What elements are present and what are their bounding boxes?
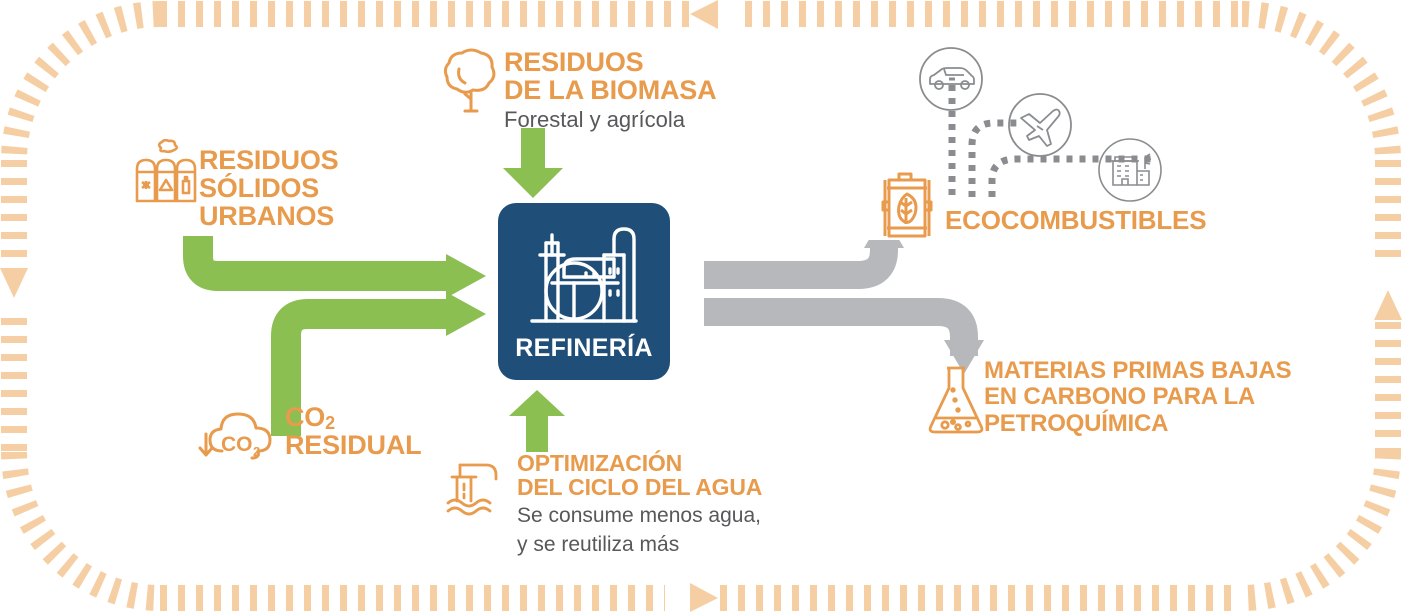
biofuel-barrel-icon	[877, 166, 937, 242]
petro-heading-line3: PETROQUÍMICA	[984, 411, 1314, 437]
right-arrowhead-icon	[1374, 290, 1402, 320]
water-pipe-icon	[446, 457, 512, 517]
refinery-plant-icon	[526, 221, 642, 329]
top-arrowhead-icon	[690, 0, 718, 29]
petro-heading-line1: MATERIAS PRIMAS BAJAS	[984, 358, 1314, 384]
arrow-rsu-head	[446, 254, 486, 298]
eco-text-block: ECOCOMBUSTIBLES	[945, 207, 1275, 234]
arrow-rsu-shaft	[198, 236, 450, 276]
biomasa-text-block: RESIDUOS DE LA BIOMASA Forestal y agríco…	[504, 48, 804, 133]
biomasa-heading-line2: DE LA BIOMASA	[504, 76, 804, 104]
airplane-icon-circle	[1007, 92, 1073, 158]
refinery-card[interactable]: REFINERÍA	[498, 203, 670, 380]
building-icon-circle	[1097, 137, 1163, 203]
biomasa-subtitle: Forestal y agrícola	[504, 107, 804, 133]
svg-text:CO: CO	[221, 433, 253, 456]
biomasa-heading-line1: RESIDUOS	[504, 48, 804, 76]
agua-text-block: OPTIMIZACIÓN DEL CICLO DEL AGUA Se consu…	[517, 452, 847, 557]
co2-heading-line1: CO2	[285, 403, 505, 431]
co2-heading-line2: RESIDUAL	[285, 431, 505, 459]
agua-heading-line2: DEL CICLO DEL AGUA	[517, 476, 847, 500]
rsu-heading-line1: RESIDUOS	[199, 146, 469, 174]
car-icon-circle	[918, 46, 984, 112]
agua-subtitle-line2: y se reutiliza más	[517, 533, 847, 558]
svg-text:2: 2	[253, 444, 260, 459]
erlenmeyer-flask-icon	[925, 360, 987, 440]
bottom-arrowhead-icon	[690, 583, 718, 612]
petro-text-block: MATERIAS PRIMAS BAJAS EN CARBONO PARA LA…	[984, 358, 1314, 437]
loop-dash-corner-br	[1242, 452, 1388, 598]
co2-cloud-icon: CO 2	[196, 406, 280, 464]
arrow-co2-head	[446, 292, 486, 336]
agua-heading-line1: OPTIMIZACIÓN	[517, 452, 847, 476]
green-arrow-agua	[503, 390, 573, 452]
loop-dash-corner-bl	[14, 452, 160, 598]
loop-dash-corner-tr	[1242, 14, 1388, 160]
rsu-heading-line2: SÓLIDOS	[199, 174, 469, 202]
diagram-canvas: REFINERÍA RESIDUOS DE LA BIOMASA Foresta…	[0, 0, 1402, 612]
tree-icon	[443, 45, 499, 115]
rsu-heading-line3: URBANOS	[199, 202, 469, 230]
green-arrow-biomasa	[497, 128, 573, 200]
refinery-label: REFINERÍA	[498, 334, 670, 363]
agua-subtitle-line1: Se consume menos agua,	[517, 504, 847, 529]
eco-heading: ECOCOMBUSTIBLES	[945, 207, 1275, 234]
rsu-text-block: RESIDUOS SÓLIDOS URBANOS	[199, 146, 469, 230]
petro-heading-line2: EN CARBONO PARA LA	[984, 384, 1314, 410]
co2-text-block: CO2 RESIDUAL	[285, 403, 505, 459]
waste-bins-icon	[131, 139, 203, 211]
left-arrowhead-icon	[0, 268, 28, 298]
